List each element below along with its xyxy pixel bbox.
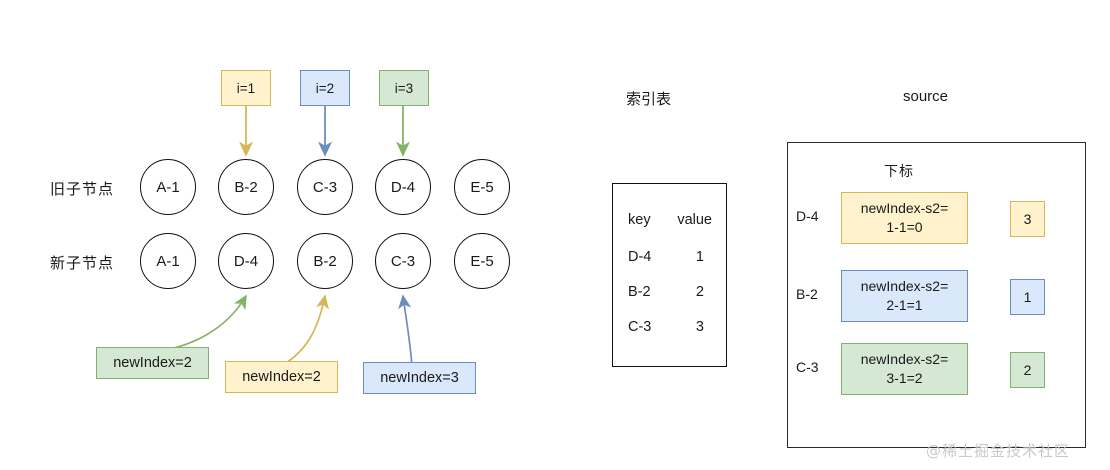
source-row-0-value: 3 [1010, 201, 1045, 237]
source-row-2-expression-line2: 3-1=2 [886, 369, 922, 388]
old-node-2-label: C-3 [313, 179, 337, 196]
old-node-3-label: D-4 [391, 179, 415, 196]
new-node-1: D-4 [218, 233, 274, 289]
old-node-4: E-5 [454, 159, 510, 215]
callout-newindex-yellow-label: newIndex=2 [242, 369, 321, 385]
old-node-4-label: E-5 [470, 179, 493, 196]
old-node-3: D-4 [375, 159, 431, 215]
source-row-0-expression-line2: 1-1=0 [886, 218, 922, 237]
index-table-header-key: key [628, 212, 651, 228]
callout-newindex-blue-label: newIndex=3 [380, 370, 459, 386]
old-node-0: A-1 [140, 159, 196, 215]
source-row-1-expression: newIndex-s2= 2-1=1 [841, 270, 968, 322]
new-node-0: A-1 [140, 233, 196, 289]
source-row-0-key: D-4 [796, 208, 819, 224]
index-table-row-2-key: C-3 [628, 319, 651, 335]
iteration-tag-3: i=3 [379, 70, 429, 106]
old-node-2: C-3 [297, 159, 353, 215]
index-table-row-2-value: 3 [696, 319, 704, 335]
source-panel: 下标 D-4 newIndex-s2= 1-1=0 3 B-2 newIndex… [787, 142, 1086, 448]
index-table: key value D-4 1 B-2 2 C-3 3 [612, 183, 727, 367]
new-node-3: C-3 [375, 233, 431, 289]
source-row-0-expression: newIndex-s2= 1-1=0 [841, 192, 968, 244]
index-table-row-0-value: 1 [696, 249, 704, 265]
source-row-1-key: B-2 [796, 286, 818, 302]
source-subscript-label: 下标 [884, 161, 914, 181]
source-row-1-value-label: 1 [1024, 289, 1032, 305]
callout-newindex-blue: newIndex=3 [363, 362, 476, 394]
source-row-1-value: 1 [1010, 279, 1045, 315]
new-node-1-label: D-4 [234, 253, 258, 270]
source-row-2-expression-line1: newIndex-s2= [861, 350, 949, 369]
iteration-tag-2: i=2 [300, 70, 350, 106]
new-node-2: B-2 [297, 233, 353, 289]
index-table-title: 索引表 [626, 88, 671, 109]
source-row-2-value: 2 [1010, 352, 1045, 388]
callout-newindex-green: newIndex=2 [96, 347, 209, 379]
source-row-1-expression-line1: newIndex-s2= [861, 277, 949, 296]
callout-newindex-yellow: newIndex=2 [225, 361, 338, 393]
index-table-header-value: value [677, 212, 712, 228]
callout-newindex-green-label: newIndex=2 [113, 355, 192, 371]
diagram-canvas: i=1 i=2 i=3 旧子节点 A-1 B-2 C-3 D-4 E-5 新子节… [0, 0, 1110, 470]
iteration-tag-1-label: i=1 [237, 81, 255, 96]
source-row-2-value-label: 2 [1024, 362, 1032, 378]
old-node-0-label: A-1 [156, 179, 179, 196]
source-row-1-expression-line2: 2-1=1 [886, 296, 922, 315]
new-node-4-label: E-5 [470, 253, 493, 270]
new-node-2-label: B-2 [313, 253, 336, 270]
new-node-4: E-5 [454, 233, 510, 289]
iteration-tag-2-label: i=2 [316, 81, 334, 96]
index-table-row-1-key: B-2 [628, 284, 651, 300]
watermark: @稀土掘金技术社区 [926, 440, 1070, 461]
new-children-row-label: 新子节点 [50, 252, 114, 273]
source-row-0-expression-line1: newIndex-s2= [861, 199, 949, 218]
source-row-0-value-label: 3 [1024, 211, 1032, 227]
new-node-3-label: C-3 [391, 253, 415, 270]
old-node-1-label: B-2 [234, 179, 257, 196]
old-node-1: B-2 [218, 159, 274, 215]
source-row-2-key: C-3 [796, 359, 819, 375]
old-children-row-label: 旧子节点 [50, 178, 114, 199]
iteration-tag-1: i=1 [221, 70, 271, 106]
new-node-0-label: A-1 [156, 253, 179, 270]
iteration-tag-3-label: i=3 [395, 81, 413, 96]
index-table-row-0-key: D-4 [628, 249, 651, 265]
source-row-2-expression: newIndex-s2= 3-1=2 [841, 343, 968, 395]
index-table-row-1-value: 2 [696, 284, 704, 300]
source-panel-title: source [903, 88, 948, 105]
